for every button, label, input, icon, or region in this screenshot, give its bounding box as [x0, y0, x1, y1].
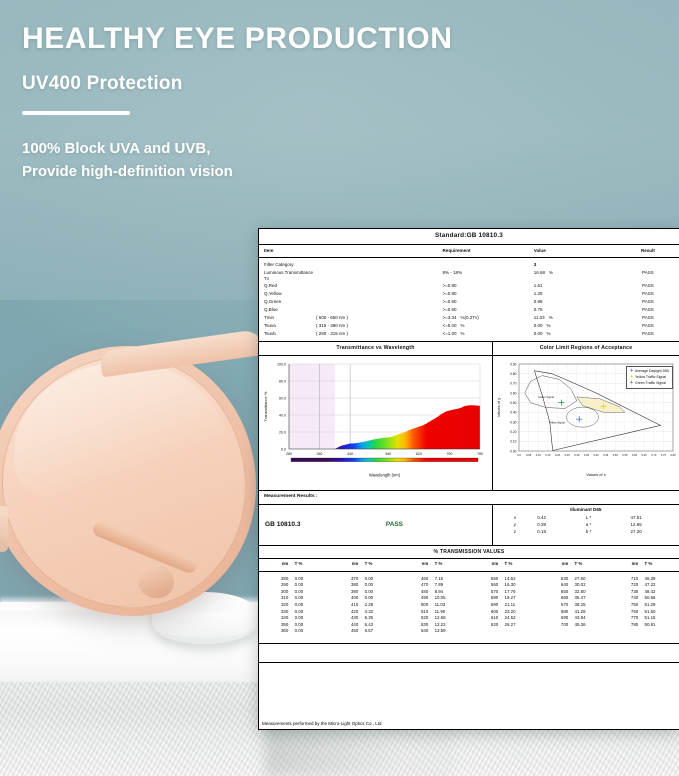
chart-legend: +Average Daylight D65+Yellow Traffic Sig…: [626, 366, 673, 389]
transmission-row: 59021.11: [469, 602, 539, 609]
spec-result: PASS: [617, 331, 679, 337]
status-badge: PASS: [386, 521, 403, 530]
illuminant-row: x0.42L *47.51: [493, 515, 679, 522]
svg-text:0.30: 0.30: [574, 453, 580, 457]
transmission-header-col: nmT %: [399, 561, 469, 568]
transmission-row: 4607.16: [399, 576, 469, 583]
illuminant-title: Illuminant D65: [493, 507, 679, 513]
measurement-results-label: Measurement Results :: [259, 491, 679, 505]
transmission-t: 0.00: [365, 595, 399, 602]
hero-divider: [22, 111, 130, 115]
transmission-row: 52012.68: [399, 615, 469, 622]
spec-row: Tmin( 500 - 650 nm )>=3.34%(0.2Tv)11.03%…: [259, 314, 679, 322]
transmission-header-col: nmT %: [539, 561, 609, 568]
transmission-nm: 720: [609, 582, 645, 589]
frame-nose-pad: [138, 564, 174, 598]
transmission-t: 0.00: [295, 576, 329, 583]
transmission-nm: 430: [329, 615, 365, 622]
spec-requirement: >=3.34%(0.2Tv): [442, 315, 533, 321]
specification-table-body: Filter Category3Luminous Transmittance T…: [259, 258, 679, 342]
charts-band: Transmittance vs Wavelength 0.020.040.06…: [259, 342, 679, 491]
transmission-row: 4707.89: [399, 582, 469, 589]
spec-item: Q,Green: [259, 299, 442, 305]
svg-text:440: 440: [347, 452, 353, 456]
transmission-row: 4808.94: [399, 589, 469, 596]
spec-value: 11.03%: [534, 315, 617, 321]
svg-text:0.45: 0.45: [603, 453, 609, 457]
transmission-row: 76051.50: [609, 609, 679, 616]
transmission-t: 0.00: [295, 615, 329, 622]
illuminant-rows: x0.42L *47.51y0.39a *12.65z0.18b *27.20: [493, 515, 679, 536]
transmission-nm: 510: [399, 609, 435, 616]
transmission-row: 4406.43: [329, 622, 399, 629]
spec-requirement-unit: %(0.2Tv): [460, 315, 478, 321]
spec-requirement: [442, 262, 533, 268]
svg-text:620: 620: [416, 452, 422, 456]
transmission-nm: 760: [609, 609, 645, 616]
spec-item-name: Tsuvb: [264, 331, 316, 337]
transmission-row: 4305.35: [329, 615, 399, 622]
transmission-t: 23.20: [505, 609, 539, 616]
spec-requirement: >=0.60: [442, 307, 533, 313]
transmission-nm: 660: [539, 595, 575, 602]
svg-text:0.20: 0.20: [510, 430, 517, 434]
transmission-nm: 370: [329, 576, 365, 583]
transmission-nm: 590: [469, 602, 505, 609]
transmission-t: 51.50: [645, 609, 679, 616]
spec-row: Tsuva( 315 - 380 nm )<=5.00%0.00%PASS: [259, 322, 679, 330]
svg-text:Values of y: Values of y: [496, 398, 501, 418]
spec-requirement-value: 8% - 18%: [442, 270, 462, 282]
hero-text-block: HEALTHY EYE PRODUCTION UV400 Protection …: [22, 22, 582, 184]
sunglasses-product-image: [0, 328, 280, 638]
spec-value-number: 11.03: [534, 315, 545, 321]
transmission-row: 3900.00: [329, 589, 399, 596]
svg-text:0.55: 0.55: [622, 453, 628, 457]
transmission-row: 2900.00: [259, 582, 329, 589]
transmission-row: 3700.00: [329, 576, 399, 583]
transmission-t: 13.22: [435, 622, 469, 629]
spec-requirement-value: >=0.80: [442, 283, 456, 289]
transmission-nm: 330: [259, 609, 295, 616]
spec-item-name: Luminous Transmittance Tv: [264, 270, 316, 282]
transmission-row: 4506.67: [329, 628, 399, 635]
spec-item: Tsuvb( 280 - 315 nm ): [259, 331, 442, 337]
svg-text:0.15: 0.15: [545, 453, 551, 457]
transmission-t: 47.22: [645, 582, 679, 589]
svg-text:0.20: 0.20: [555, 453, 561, 457]
transmission-row: 2800.00: [259, 576, 329, 583]
spec-value: 1.61: [534, 283, 617, 289]
transmission-nm: 440: [329, 622, 365, 629]
transmission-nm: 470: [399, 582, 435, 589]
transmission-header-col: nmT %: [469, 561, 539, 568]
transmission-t: 0.00: [295, 582, 329, 589]
svg-text:0.0: 0.0: [517, 453, 521, 457]
transmission-values-title: % TRANSMISSION VALUES: [259, 546, 679, 559]
svg-text:0.65: 0.65: [642, 453, 648, 457]
transmission-nm: 490: [399, 595, 435, 602]
svg-text:0.90: 0.90: [510, 362, 517, 366]
transmission-nm: 360: [259, 628, 295, 635]
transmission-t: 26.27: [505, 622, 539, 629]
transmission-nm: 530: [399, 622, 435, 629]
transmission-nm: 520: [399, 615, 435, 622]
transmission-nm: 390: [329, 589, 365, 596]
transmission-nm: 700: [539, 622, 575, 629]
transmission-t: 21.11: [505, 602, 539, 609]
header-t: T %: [295, 561, 329, 568]
spec-requirement-unit: %: [460, 331, 464, 337]
spec-requirement-unit: %: [460, 323, 464, 329]
illuminant-key: y: [493, 522, 538, 528]
svg-text:0.0: 0.0: [281, 447, 286, 451]
transmission-nm: 340: [259, 615, 295, 622]
transmission-nm: 350: [259, 622, 295, 629]
transmission-t: 11.03: [435, 602, 469, 609]
svg-text:0.40: 0.40: [593, 453, 599, 457]
svg-text:0.70: 0.70: [651, 453, 657, 457]
transmission-t: 5.35: [365, 615, 399, 622]
transmission-nm: 680: [539, 609, 575, 616]
transmission-t: 10.05: [435, 595, 469, 602]
transmission-nm: 280: [259, 576, 295, 583]
header-t: T %: [435, 561, 469, 568]
transmission-row: 3800.00: [329, 582, 399, 589]
spec-requirement: <=1.00%: [442, 331, 533, 337]
spec-item-range: ( 500 - 650 nm ): [316, 315, 348, 321]
transmission-t: 27.60: [575, 576, 609, 583]
illuminant-row: y0.39a *12.65: [493, 522, 679, 529]
transmission-t: 30.02: [575, 582, 609, 589]
report-footer-wrap: Measurements performed by the Micro-Ligh…: [258, 718, 678, 726]
transmission-t: 8.94: [435, 589, 469, 596]
spec-value-unit: %: [549, 315, 553, 321]
transmission-t: 50.91: [645, 622, 679, 629]
spec-result: PASS: [617, 291, 679, 297]
transmission-row: 72047.22: [609, 582, 679, 589]
transmission-row: 53013.22: [399, 622, 469, 629]
transmission-row: 4102.28: [329, 602, 399, 609]
transmission-header-col: nmT %: [329, 561, 399, 568]
legend-marker-plus-icon: +: [630, 381, 633, 386]
transmission-row: 73048.42: [609, 589, 679, 596]
transmission-nm: 780: [609, 622, 645, 629]
column-header-requirement: Requirement: [442, 248, 533, 254]
transmission-nm: 620: [469, 622, 505, 629]
svg-text:60.0: 60.0: [279, 396, 286, 400]
illuminant-value: 0.42: [537, 515, 585, 521]
spec-result: PASS: [617, 323, 679, 329]
hero-body-line-2: Provide high-definition vision: [22, 160, 582, 183]
spec-requirement: >=0.80: [442, 291, 533, 297]
transmission-t: 35.47: [575, 595, 609, 602]
spec-requirement-value: >=0.60: [442, 299, 456, 305]
transmission-row: 58019.27: [469, 595, 539, 602]
transmission-table-spacer: [259, 644, 679, 663]
transmission-t: 17.76: [505, 589, 539, 596]
spec-item-name: Tmin: [264, 315, 316, 321]
specification-table-header: Item Requirement Value Result: [259, 245, 679, 258]
transmission-t: 50.58: [645, 595, 679, 602]
spec-value-number: 3: [534, 262, 537, 268]
spec-value-number: 1.61: [534, 283, 543, 289]
transmission-nm: 320: [259, 602, 295, 609]
transmission-row: 3200.00: [259, 602, 329, 609]
transmission-row: 4000.00: [329, 595, 399, 602]
transmission-t: 24.52: [505, 615, 539, 622]
transmission-nm: 570: [469, 589, 505, 596]
transmission-nm: 300: [259, 589, 295, 596]
svg-text:0.10: 0.10: [536, 453, 542, 457]
spec-row: Q,Yellow>=0.801.25PASS: [259, 290, 679, 298]
transmission-row: 3000.00: [259, 589, 329, 596]
svg-text:0.75: 0.75: [661, 453, 667, 457]
transmission-nm: 560: [469, 582, 505, 589]
transmission-t: 16.30: [505, 582, 539, 589]
transmission-t: 19.27: [505, 595, 539, 602]
spec-value-unit: %: [549, 270, 553, 282]
transmittance-plot-area: 0.020.040.060.080.0100.02803604405406207…: [259, 356, 492, 479]
transmission-row: 63027.60: [539, 576, 609, 583]
spec-requirement-value: <=5.00: [442, 323, 456, 329]
header-t: T %: [505, 561, 539, 568]
svg-text:0.50: 0.50: [510, 401, 517, 405]
spec-item: Q,Yellow: [259, 291, 442, 297]
header-nm: nm: [609, 561, 645, 568]
transmission-row: 70045.36: [539, 622, 609, 629]
transmission-t: 13.59: [435, 628, 469, 635]
frame-hinge: [0, 506, 8, 552]
transmission-row: 4204.32: [329, 609, 399, 616]
svg-text:Transmittance %: Transmittance %: [263, 391, 268, 421]
transmission-nm: 770: [609, 615, 645, 622]
spec-item: Q,Red: [259, 283, 442, 289]
specification-table: Item Requirement Value Result Filter Cat…: [259, 245, 679, 343]
svg-text:0.10: 0.10: [510, 440, 517, 444]
uv-test-report: Standard:GB 10810.3 Item Requirement Val…: [258, 228, 679, 730]
svg-text:0.40: 0.40: [510, 411, 517, 415]
transmission-nm: 460: [399, 576, 435, 583]
header-nm: nm: [469, 561, 505, 568]
spec-value-number: 0.00: [534, 323, 543, 329]
svg-text:Green Signal: Green Signal: [538, 395, 554, 399]
hero-body-line-1: 100% Block UVA and UVB,: [22, 137, 582, 160]
spec-value: 0.00%: [534, 331, 617, 337]
spec-requirement: >=0.60: [442, 299, 533, 305]
chromaticity-plot-area: 0.000.100.200.300.400.500.600.700.800.90…: [493, 356, 679, 479]
transmission-t: 4.32: [365, 609, 399, 616]
transmission-header-col: nmT %: [259, 561, 329, 568]
illuminant-values: Illuminant D65 x0.42L *47.51y0.39a *12.6…: [493, 505, 679, 545]
spec-item: Filter Category: [259, 262, 442, 268]
column-header-item: Item: [259, 248, 442, 254]
spec-value-unit: %: [547, 331, 551, 337]
transmission-t: 41.28: [575, 609, 609, 616]
spec-result: PASS: [617, 315, 679, 321]
spec-row: Luminous Transmittance Tv8% - 18%16.68%P…: [259, 269, 679, 283]
transmission-nm: 310: [259, 595, 295, 602]
svg-text:0.60: 0.60: [632, 453, 638, 457]
spec-item-range: ( 280 - 315 nm ): [316, 331, 348, 337]
hero-subhead: UV400 Protection: [22, 73, 582, 95]
svg-text:100.0: 100.0: [277, 362, 286, 366]
transmission-nm: 690: [539, 615, 575, 622]
transmission-nm: 730: [609, 589, 645, 596]
transmission-row: 56016.30: [469, 582, 539, 589]
transmission-nm: 480: [399, 589, 435, 596]
transmission-nm: 740: [609, 595, 645, 602]
transmission-nm: 640: [539, 582, 575, 589]
transmittance-chart-title: Transmittance vs Wavelength: [259, 342, 492, 356]
transmission-row: 3400.00: [259, 615, 329, 622]
transmission-column: 55014.6256016.3057017.7658019.2759021.11…: [469, 576, 539, 638]
spec-requirement-value: <=1.00: [442, 331, 456, 337]
header-nm: nm: [259, 561, 295, 568]
transmission-row: 77051.15: [609, 615, 679, 622]
transmission-t: 51.29: [645, 602, 679, 609]
transmission-t: 12.68: [435, 615, 469, 622]
illuminant-key2: L *: [586, 515, 631, 521]
transmission-row: 3500.00: [259, 622, 329, 629]
legend-item: +Green Traffic Signal: [630, 381, 669, 387]
hero-body: 100% Block UVA and UVB, Provide high-def…: [22, 137, 582, 184]
spec-item: Luminous Transmittance Tv: [259, 270, 442, 282]
spec-row: Q,Blue>=0.600.75PASS: [259, 306, 679, 314]
transmission-t: 51.15: [645, 615, 679, 622]
transmission-nm: 630: [539, 576, 575, 583]
spec-value-number: 1.25: [534, 291, 543, 297]
svg-text:0.30: 0.30: [510, 420, 517, 424]
transmission-t: 0.00: [365, 576, 399, 583]
spec-item-name: Q,Red: [264, 283, 316, 289]
transmission-t: 0.00: [365, 582, 399, 589]
illuminant-key: x: [493, 515, 538, 521]
transmission-nm: 670: [539, 602, 575, 609]
transmission-row: 3600.00: [259, 628, 329, 635]
transmission-t: 48.42: [645, 589, 679, 596]
svg-text:360: 360: [317, 452, 323, 456]
measurement-standard: GB 10810.3: [259, 521, 386, 530]
report-footer: Measurements performed by the Micro-Ligh…: [258, 718, 678, 726]
transmission-nm: 550: [469, 576, 505, 583]
transmission-t: 2.28: [365, 602, 399, 609]
transmission-nm: 540: [399, 628, 435, 635]
svg-text:0.50: 0.50: [613, 453, 619, 457]
transmission-nm: 650: [539, 589, 575, 596]
transmittance-chart: Transmittance vs Wavelength 0.020.040.06…: [259, 342, 493, 490]
transmission-row: 49010.05: [399, 595, 469, 602]
transmission-nm: 710: [609, 576, 645, 583]
svg-text:0.70: 0.70: [510, 382, 517, 386]
transmission-row: 74050.58: [609, 595, 679, 602]
transmission-t: 46.39: [645, 576, 679, 583]
color-limit-chart: Color Limit Regions of Acceptance 0.000.…: [493, 342, 679, 490]
svg-text:Wavelength (nm): Wavelength (nm): [369, 473, 401, 478]
transmittance-svg: 0.020.040.060.080.0100.02803604405406207…: [259, 356, 492, 479]
spec-item-name: Tsuva: [264, 323, 316, 329]
spec-row: Filter Category3: [259, 261, 679, 269]
svg-text:0.05: 0.05: [526, 453, 532, 457]
transmission-t: 7.89: [435, 582, 469, 589]
header-nm: nm: [329, 561, 365, 568]
svg-text:0.00: 0.00: [510, 449, 517, 453]
transmission-t: 0.00: [295, 595, 329, 602]
transmission-t: 0.00: [365, 589, 399, 596]
transmission-column: 2800.002900.003000.003100.003200.003300.…: [259, 576, 329, 638]
transmission-row: 3300.00: [259, 609, 329, 616]
svg-text:Values of x: Values of x: [586, 472, 606, 477]
svg-text:40.0: 40.0: [279, 413, 286, 417]
measurement-results-row: GB 10810.3 PASS Illuminant D65 x0.42L *4…: [259, 505, 679, 546]
header-t: T %: [575, 561, 609, 568]
spec-item-name: Filter Category: [264, 262, 316, 268]
spec-value: 1.25: [534, 291, 617, 297]
report-standard-title: Standard:GB 10810.3: [259, 229, 679, 245]
transmission-column: 4607.164707.894808.9449010.0550011.03510…: [399, 576, 469, 638]
svg-text:20.0: 20.0: [279, 430, 286, 434]
spec-value-number: 0.88: [534, 299, 543, 305]
illuminant-key2: b *: [586, 529, 631, 535]
transmission-t: 6.43: [365, 622, 399, 629]
transmission-column: 63027.6064030.0265032.8066035.4767038.25…: [539, 576, 609, 638]
transmission-row: 64030.02: [539, 582, 609, 589]
transmission-row: 51011.90: [399, 609, 469, 616]
transmission-row: 54013.59: [399, 628, 469, 635]
illuminant-value2: 27.20: [630, 529, 678, 535]
column-header-value: Value: [534, 248, 617, 254]
spec-result: PASS: [617, 299, 679, 305]
transmission-t: 45.36: [575, 622, 609, 629]
svg-text:Yellow Signal: Yellow Signal: [549, 420, 565, 424]
header-t: T %: [365, 561, 399, 568]
transmission-t: 0.00: [295, 622, 329, 629]
spec-value-unit: %: [547, 323, 551, 329]
spec-value: 0.88: [534, 299, 617, 305]
spec-item: Q,Blue: [259, 307, 442, 313]
transmission-row: 50011.03: [399, 602, 469, 609]
illuminant-key: z: [493, 529, 538, 535]
transmission-row: 55014.62: [469, 576, 539, 583]
illuminant-value: 0.39: [537, 522, 585, 528]
spec-value: 16.68%: [534, 270, 617, 282]
svg-text:0.25: 0.25: [565, 453, 571, 457]
transmission-row: 65032.80: [539, 589, 609, 596]
transmission-t: 7.16: [435, 576, 469, 583]
header-nm: nm: [539, 561, 575, 568]
svg-text:0.80: 0.80: [510, 372, 517, 376]
transmission-row: 67038.25: [539, 602, 609, 609]
svg-text:780: 780: [477, 452, 483, 456]
svg-text:0.60: 0.60: [510, 391, 517, 395]
transmission-t: 43.94: [575, 615, 609, 622]
spec-result: PASS: [617, 307, 679, 313]
spec-value: 0.00%: [534, 323, 617, 329]
spec-requirement-value: >=0.80: [442, 291, 456, 297]
illuminant-value2: 47.51: [630, 515, 678, 521]
transmission-t: 0.00: [295, 609, 329, 616]
transmission-row: 62026.27: [469, 622, 539, 629]
transmission-table-body: 2800.002900.003000.003100.003200.003300.…: [259, 572, 679, 644]
transmission-nm: 600: [469, 609, 505, 616]
column-header-result: Result: [617, 248, 679, 254]
transmission-nm: 580: [469, 595, 505, 602]
transmission-row: 69043.94: [539, 615, 609, 622]
svg-text:0.35: 0.35: [584, 453, 590, 457]
transmission-row: 75051.29: [609, 602, 679, 609]
transmission-nm: 750: [609, 602, 645, 609]
spec-value-number: 0.75: [534, 307, 543, 313]
